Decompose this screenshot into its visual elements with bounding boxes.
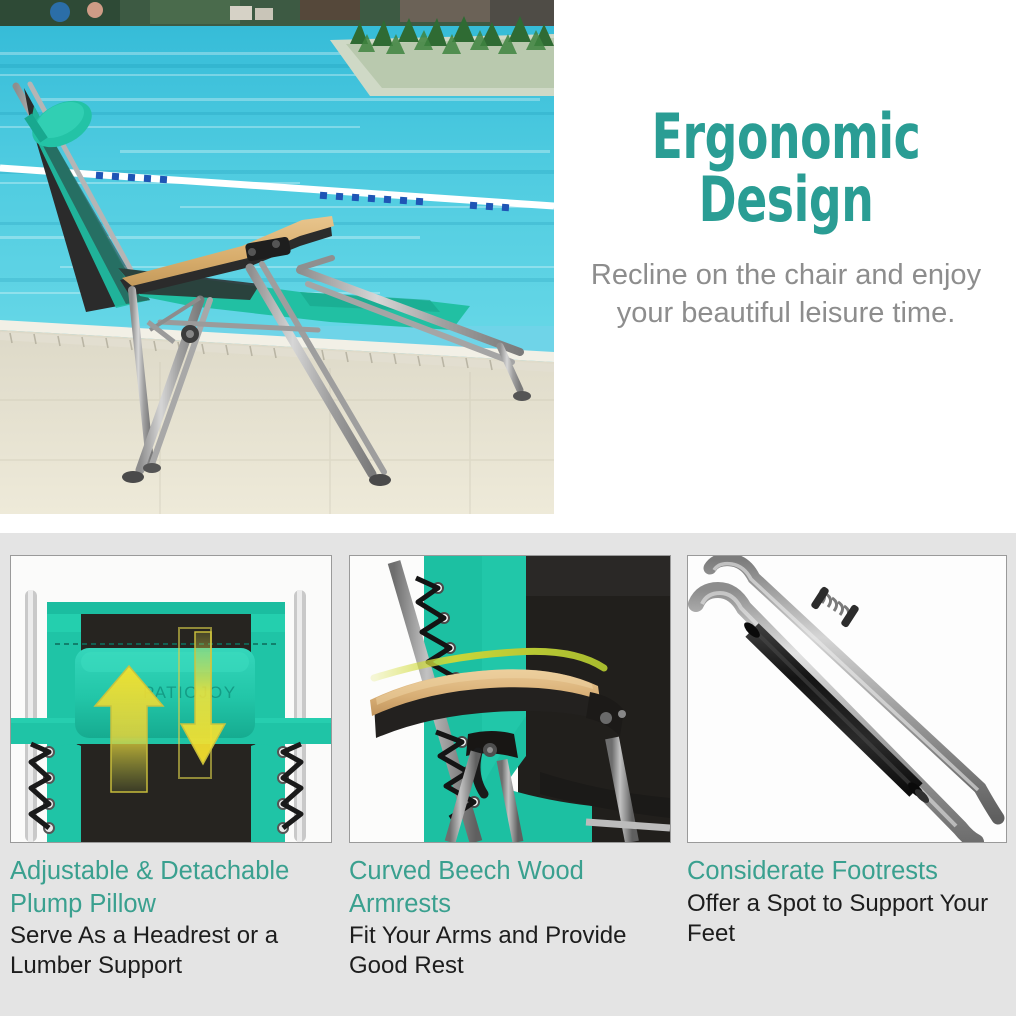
feature-body: Serve As a Headrest or a Lumber Support <box>10 921 332 981</box>
hero-photo-pool-chair <box>0 0 554 514</box>
hero-subtitle: Recline on the chair and enjoy your beau… <box>566 256 1006 333</box>
feature-caption-armrest: Curved Beech Wood Armrests Fit Your Arms… <box>349 843 671 982</box>
features-section: PATIOJOY <box>0 533 1016 1016</box>
armrest-illustration <box>350 556 670 842</box>
feature-title: Adjustable & Detachable Plump Pillow <box>10 855 332 920</box>
hero-text-block: Ergonomic Design Recline on the chair an… <box>566 108 1006 408</box>
feature-photo-footrest <box>687 555 1007 843</box>
feature-photo-armrest <box>349 555 671 843</box>
feature-card-list: PATIOJOY <box>0 533 1016 1016</box>
feature-card-armrest: Curved Beech Wood Armrests Fit Your Arms… <box>349 555 671 982</box>
feature-body: Offer a Spot to Support Your Feet <box>687 889 1007 949</box>
feature-card-pillow: PATIOJOY <box>10 555 332 982</box>
hero-headline: Ergonomic Design <box>606 108 967 230</box>
feature-caption-pillow: Adjustable & Detachable Plump Pillow Ser… <box>10 843 332 982</box>
hero-section: Ergonomic Design Recline on the chair an… <box>0 0 1016 533</box>
pillow-illustration: PATIOJOY <box>11 556 331 842</box>
footrest-illustration <box>688 556 1006 842</box>
feature-body: Fit Your Arms and Provide Good Rest <box>349 921 671 981</box>
hero-illustration <box>0 0 554 514</box>
feature-photo-pillow: PATIOJOY <box>10 555 332 843</box>
feature-card-footrest: Considerate Footrests Offer a Spot to Su… <box>687 555 1007 949</box>
product-feature-page: Ergonomic Design Recline on the chair an… <box>0 0 1016 1016</box>
feature-caption-footrest: Considerate Footrests Offer a Spot to Su… <box>687 843 1007 949</box>
feature-title: Considerate Footrests <box>687 855 1007 888</box>
feature-title: Curved Beech Wood Armrests <box>349 855 671 920</box>
hero-headline-line2: Design <box>606 171 967 230</box>
